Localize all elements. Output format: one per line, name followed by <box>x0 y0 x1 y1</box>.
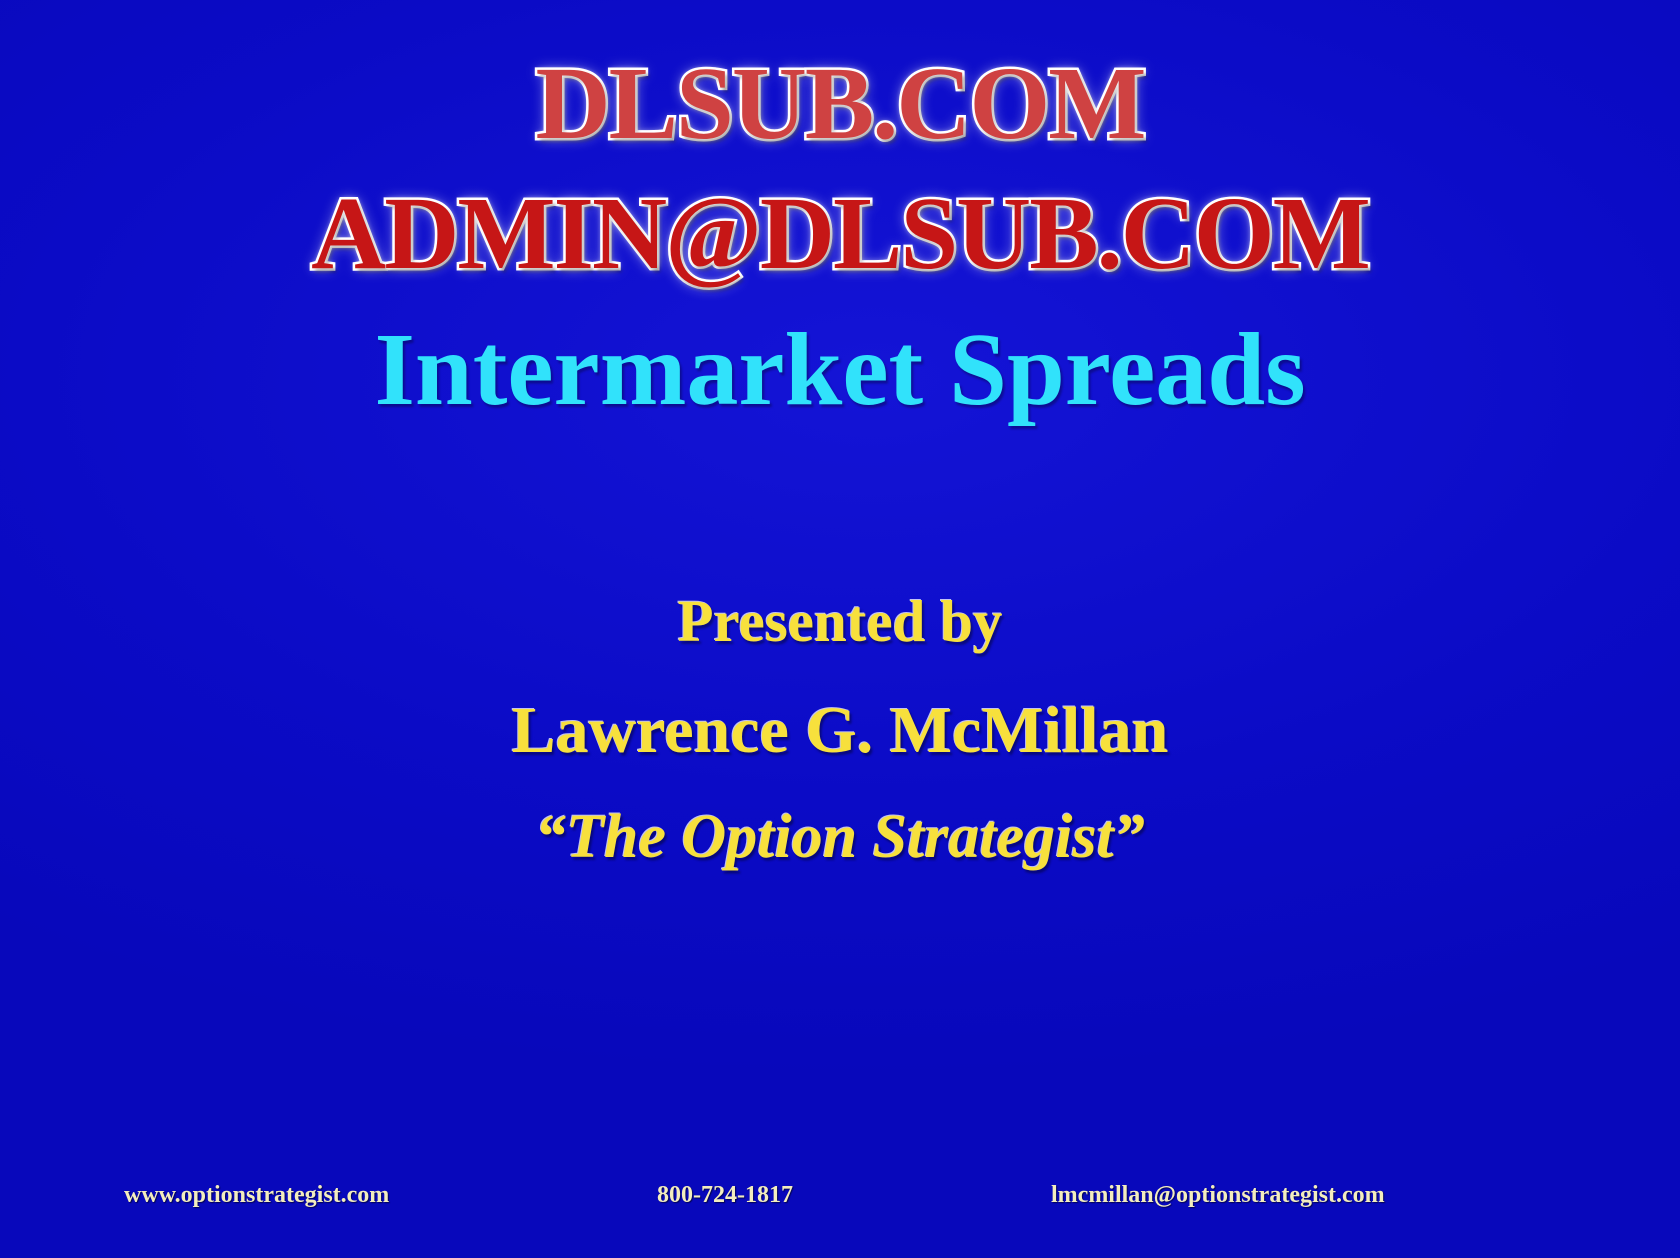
presentation-slide: DLSUB.COM ADMIN@DLSUB.COM Intermarket Sp… <box>0 0 1680 1258</box>
watermark-line-2: ADMIN@DLSUB.COM <box>0 182 1680 286</box>
presented-by-label: Presented by <box>0 592 1680 651</box>
footer-email: lmcmillan@optionstrategist.com <box>1051 1182 1385 1209</box>
footer-phone: 800-724-1817 <box>657 1182 793 1209</box>
slide-title-row: Intermarket Spreads <box>0 312 1680 428</box>
watermark-site-text: DLSUB.COM <box>536 52 1145 156</box>
presenter-tagline: “The Option Strategist” <box>0 806 1680 868</box>
slide-title: Intermarket Spreads <box>374 312 1305 427</box>
presenter-block: Presented by Lawrence G. McMillan “The O… <box>0 592 1680 868</box>
footer-bar: www.optionstrategist.com 800-724-1817 lm… <box>0 1175 1680 1215</box>
presenter-name: Lawrence G. McMillan <box>0 698 1680 764</box>
footer-website: www.optionstrategist.com <box>124 1182 389 1209</box>
watermark-line-1: DLSUB.COM <box>0 52 1680 156</box>
watermark-email-text: ADMIN@DLSUB.COM <box>311 182 1369 286</box>
